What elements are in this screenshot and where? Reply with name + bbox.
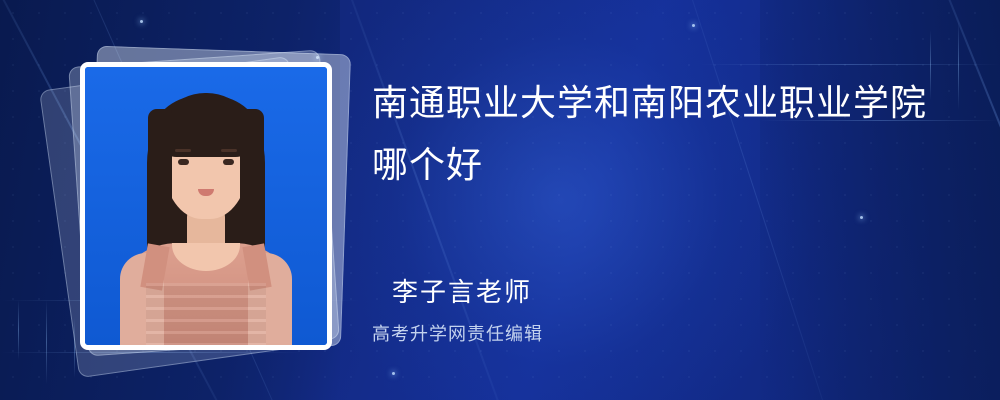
portrait-hair-left bbox=[148, 109, 172, 251]
portrait-dress-texture bbox=[146, 283, 266, 350]
author-role: 高考升学网责任编辑 bbox=[372, 320, 543, 346]
portrait-hair-right bbox=[240, 109, 264, 251]
portrait-eyebrow-right bbox=[221, 149, 237, 152]
portrait-photo bbox=[80, 62, 332, 350]
author-name: 李子言老师 bbox=[392, 272, 532, 309]
vertical-tick bbox=[18, 300, 19, 360]
vertical-tick bbox=[46, 300, 47, 384]
article-cover-banner: 南通职业大学和南阳农业职业学院 哪个好 李子言老师 高考升学网责任编辑 bbox=[0, 0, 1000, 400]
sparkle-dot bbox=[140, 20, 143, 23]
portrait-eye-left bbox=[178, 159, 189, 165]
sparkle-dot bbox=[392, 372, 395, 375]
headline-line-1: 南通职业大学和南阳农业职业学院 bbox=[372, 72, 972, 134]
page-title: 南通职业大学和南阳农业职业学院 哪个好 bbox=[372, 72, 972, 196]
portrait-eye-right bbox=[223, 159, 234, 165]
horizon-line bbox=[700, 64, 1000, 65]
portrait-eyebrow-left bbox=[175, 149, 191, 152]
sparkle-dot bbox=[692, 24, 695, 27]
sparkle-dot bbox=[860, 216, 863, 219]
headline-line-2: 哪个好 bbox=[372, 134, 972, 196]
